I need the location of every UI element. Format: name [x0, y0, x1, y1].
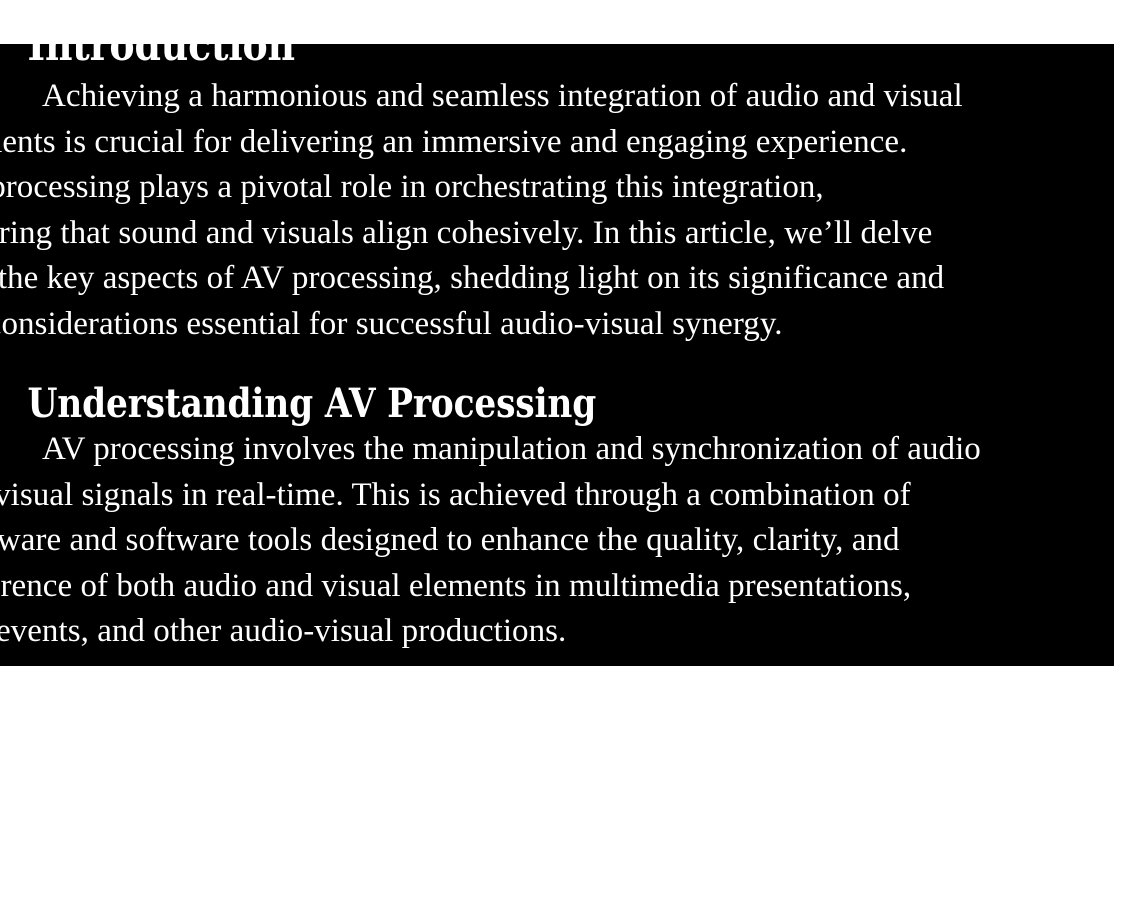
paragraph-line: AV processing involves the manipulation … — [0, 427, 1114, 473]
paragraph-understanding-av-processing: AV processing involves the manipulation … — [0, 427, 1114, 655]
section-gap — [0, 347, 1114, 363]
paragraph-line: the considerations essential for success… — [0, 302, 1114, 348]
paragraph-line: coherence of both audio and visual eleme… — [0, 564, 1114, 610]
section-heading-understanding-av-processing: Understanding AV Processing — [0, 363, 1004, 427]
page-canvas: Introduction Achieving a harmonious and … — [0, 0, 1122, 904]
paragraph-line: elements is crucial for delivering an im… — [0, 120, 1114, 166]
article-panel: Introduction Achieving a harmonious and … — [0, 44, 1114, 666]
paragraph-line: Achieving a harmonious and seamless inte… — [0, 74, 1114, 120]
paragraph-line: AV processing plays a pivotal role in or… — [0, 165, 1114, 211]
paragraph-line: into the key aspects of AV processing, s… — [0, 256, 1114, 302]
paragraph-line: live events, and other audio-visual prod… — [0, 609, 1114, 655]
section-heading-introduction: Introduction — [0, 44, 1004, 70]
paragraph-line: ensuring that sound and visuals align co… — [0, 211, 1114, 257]
paragraph-introduction: Achieving a harmonious and seamless inte… — [0, 74, 1114, 347]
paragraph-line: hardware and software tools designed to … — [0, 518, 1114, 564]
paragraph-line: and visual signals in real-time. This is… — [0, 473, 1114, 519]
article-content-flow: Introduction Achieving a harmonious and … — [0, 44, 1114, 655]
